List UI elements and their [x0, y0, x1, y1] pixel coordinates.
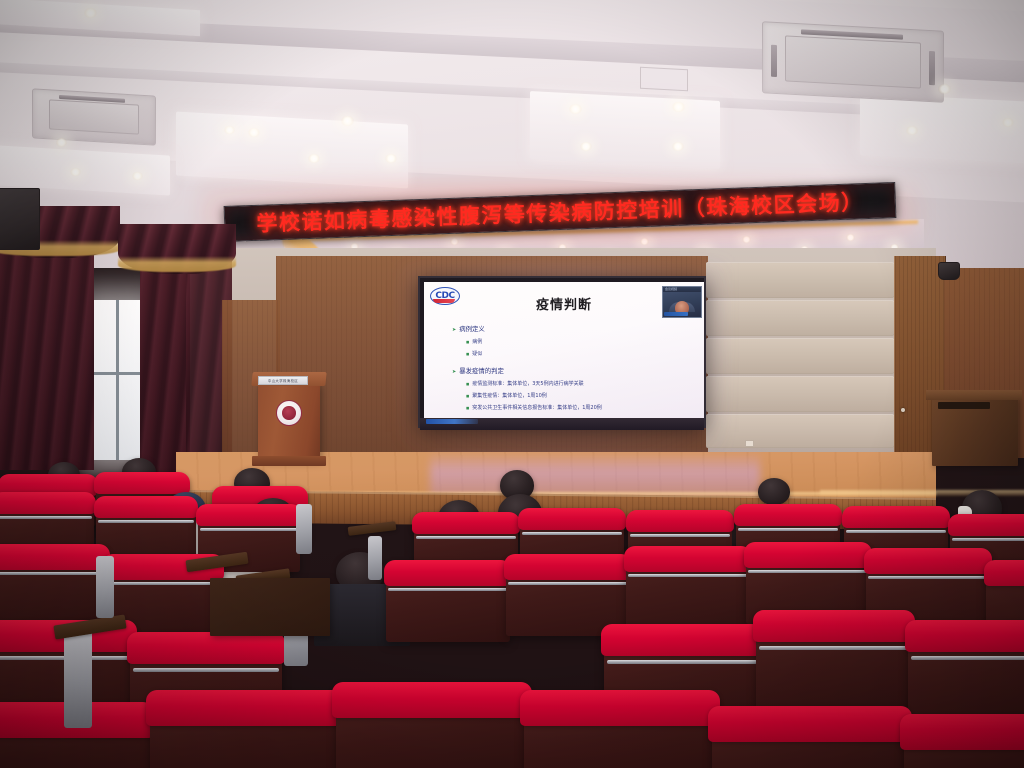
slide-bullet-3: 疑似 — [466, 350, 482, 357]
downlight — [224, 126, 235, 134]
slide-bullet-1: 病例定义 — [452, 324, 485, 333]
ac-vent — [929, 51, 935, 85]
seat-top-rail — [842, 506, 950, 528]
seat-chrome-trim — [868, 576, 987, 579]
seat[interactable] — [756, 618, 912, 720]
seat-side-panel — [368, 536, 382, 580]
seat[interactable] — [336, 692, 528, 768]
seat-chrome-trim — [630, 534, 730, 537]
slide-bullet-6: 聚集性疫情：集体单位，1周10例 — [466, 392, 547, 399]
seat-top-rail — [900, 714, 1024, 750]
seat-chrome-trim — [200, 528, 298, 531]
side-desk-top — [926, 390, 1022, 400]
slide-bullet-4: 暴发疫情的判定 — [452, 366, 504, 375]
seat-top-rail — [384, 560, 513, 586]
ceiling-light-panel-2 — [176, 112, 408, 189]
downlight — [132, 172, 143, 180]
downlight — [938, 84, 951, 94]
slide-bullet-5: 疫情监测标准：集体单位，3天5例内进行病学关联 — [466, 380, 584, 387]
seat-chrome-trim — [952, 538, 1024, 541]
ceiling-light-panel-3 — [530, 91, 720, 169]
projection-screen: CDC 疫情判断 病例定义 病例 疑似 暴发疫情的判定 疫情监测标准：集体单位，… — [418, 276, 706, 428]
seat-top-rail — [905, 620, 1024, 652]
wall-speaker-right — [938, 262, 960, 280]
acoustic-panel — [706, 414, 894, 448]
seat-side-panel — [96, 556, 114, 618]
lectern-nameplate-text: 中山大学珠海校区 — [268, 378, 298, 383]
seat[interactable] — [0, 550, 108, 622]
seat-chrome-trim — [416, 536, 516, 539]
front-row-desk — [210, 578, 330, 636]
seat[interactable] — [524, 700, 716, 768]
downlight — [640, 238, 649, 245]
seat-chrome-trim — [607, 660, 757, 664]
seat[interactable] — [96, 502, 196, 562]
seat-chrome-trim — [133, 668, 279, 672]
ceiling-access-hatch — [640, 67, 688, 92]
downlight — [580, 142, 592, 151]
auditorium-photo: 学校诺如病毒感染性腹泻等传染病防控培训（珠海校区会场） CDC 疫情判断 — [0, 0, 1024, 768]
seat-top-rail — [196, 504, 302, 526]
downlight — [672, 142, 684, 151]
seat[interactable] — [904, 724, 1024, 768]
downlight — [450, 238, 459, 245]
seat-top-rail — [332, 682, 532, 718]
downlight — [56, 138, 67, 147]
seat-chrome-trim — [388, 588, 507, 591]
acoustic-panel — [706, 376, 894, 412]
seat-top-rail — [601, 624, 763, 656]
acoustic-panel — [706, 262, 894, 298]
downlight — [308, 154, 320, 163]
seat-top-rail — [412, 512, 520, 534]
wall-outlet — [745, 440, 754, 447]
seat-chrome-trim — [106, 582, 219, 585]
wall-speaker-left — [0, 188, 40, 250]
door-knob[interactable] — [901, 408, 905, 412]
seat-top-rail — [518, 508, 626, 530]
seat-top-rail — [504, 554, 633, 580]
seat-chrome-trim — [98, 520, 194, 523]
downlight — [846, 234, 855, 241]
downlight — [569, 104, 582, 114]
side-desk-slot — [938, 402, 990, 409]
seat-top-rail — [146, 690, 344, 726]
downlight — [385, 154, 397, 163]
downlight — [70, 168, 81, 176]
seat-top-rail — [0, 544, 110, 570]
downlight — [906, 126, 918, 135]
seat-side-panel — [64, 628, 92, 728]
seat-top-rail — [984, 560, 1024, 586]
lectern-nameplate: 中山大学珠海校区 — [258, 376, 308, 385]
downlight — [1002, 118, 1014, 127]
seat-top-rail — [624, 546, 753, 572]
seat[interactable] — [626, 552, 750, 628]
downlight — [672, 102, 685, 112]
slide-bullet-7: 突发公共卫生事件相关信息报告标准：集体单位，1周20例 — [466, 404, 602, 411]
ceiling-ac-unit-left — [32, 88, 156, 145]
seat-chrome-trim — [911, 656, 1024, 660]
seat-chrome-trim — [846, 530, 946, 533]
seat-chrome-trim — [0, 572, 106, 575]
seat-chrome-trim — [759, 646, 909, 650]
lectern-base — [252, 456, 326, 466]
seat-top-rail — [94, 496, 198, 518]
seat-top-rail — [734, 504, 842, 526]
university-emblem-icon — [276, 400, 302, 426]
slide-bullet-2: 病例 — [466, 338, 482, 345]
seat-top-rail — [708, 706, 912, 742]
seat-chrome-trim — [738, 528, 838, 531]
video-conference-pip[interactable]: 会议视频 — [662, 286, 702, 318]
seat-top-rail — [127, 632, 285, 664]
audience-person — [758, 478, 790, 505]
seat[interactable] — [386, 566, 510, 642]
downlight — [248, 128, 260, 137]
seat-top-rail — [520, 690, 720, 726]
seat-side-panel — [296, 504, 312, 554]
downlight — [341, 116, 354, 126]
pip-footer-label — [664, 312, 688, 316]
seat-top-rail — [744, 542, 873, 568]
seat-top-rail — [0, 492, 96, 514]
acoustic-panel — [706, 300, 894, 336]
downlight — [742, 236, 751, 243]
seat-chrome-trim — [628, 574, 747, 577]
window-mullion-v — [116, 300, 119, 460]
ac-grille — [785, 35, 921, 88]
seat-chrome-trim — [0, 516, 92, 519]
valance-gold-trim-right — [118, 256, 236, 272]
presentation-slide: CDC 疫情判断 病例定义 病例 疑似 暴发疫情的判定 疫情监测标准：集体单位，… — [424, 282, 704, 418]
seat-chrome-trim — [748, 570, 867, 573]
downlight — [84, 8, 97, 18]
ac-grille — [49, 99, 139, 134]
slide-footer-bar — [426, 419, 478, 424]
pip-titlebar: 会议视频 — [663, 287, 701, 292]
person-head — [758, 478, 790, 505]
emblem-inner — [282, 406, 295, 419]
acoustic-panel — [706, 338, 894, 374]
seat-top-rail — [864, 548, 993, 574]
seat-top-rail — [94, 472, 190, 494]
lectern — [258, 382, 320, 460]
seat[interactable] — [712, 716, 908, 768]
seat-top-rail — [626, 510, 734, 532]
seat[interactable] — [150, 700, 340, 768]
seat-chrome-trim — [522, 532, 622, 535]
seat-chrome-trim — [508, 582, 627, 585]
ceiling-ac-unit-right — [762, 21, 944, 103]
seat-top-rail — [753, 610, 915, 642]
ac-vent — [771, 45, 777, 77]
seat-top-rail — [948, 514, 1024, 536]
ceiling-light-panel-4 — [860, 93, 1024, 164]
